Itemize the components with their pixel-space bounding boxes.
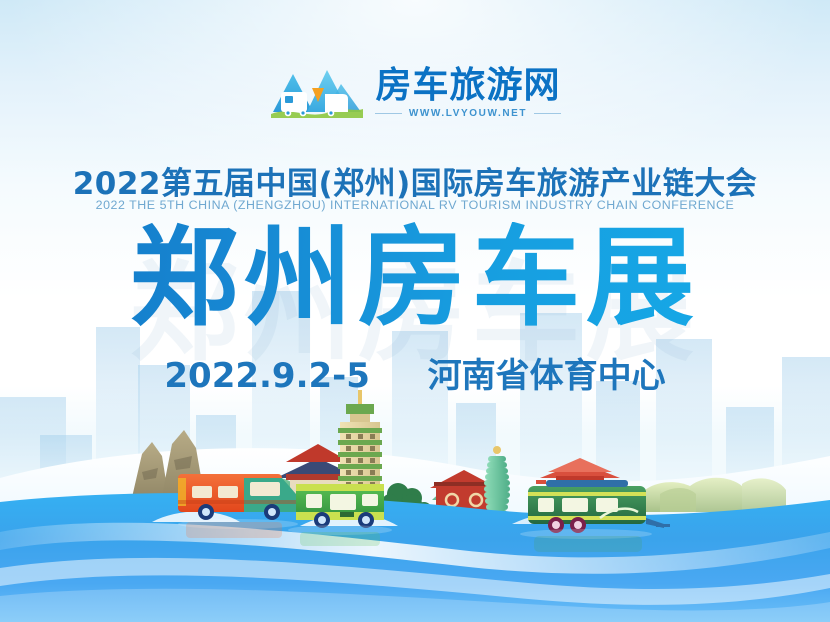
event-headline: 郑州房车展 xyxy=(0,222,830,335)
rv-mountain-logo-icon xyxy=(269,62,365,124)
conference-title-en: 2022 THE 5TH CHINA (ZHENGZHOU) INTERNATI… xyxy=(0,198,830,212)
brand-url: WWW.LVYOUW.NET xyxy=(409,108,527,119)
poster-canvas: 房车旅游网 WWW.LVYOUW.NET 2022第五届中国(郑州)国际房车旅游… xyxy=(0,0,830,622)
brand-url-row: WWW.LVYOUW.NET xyxy=(375,108,560,119)
green-rv xyxy=(288,484,392,535)
conference-title-cn: 2022第五届中国(郑州)国际房车旅游产业链大会 xyxy=(0,158,830,203)
brand-name-cn: 房车旅游网 xyxy=(375,67,560,105)
orange-rv xyxy=(178,474,298,529)
brand-logo[interactable]: 房车旅游网 WWW.LVYOUW.NET xyxy=(0,62,830,124)
scene-svg xyxy=(0,382,830,622)
dash-left xyxy=(375,113,401,114)
dash-right xyxy=(534,113,560,114)
illustration-scene xyxy=(0,382,830,622)
